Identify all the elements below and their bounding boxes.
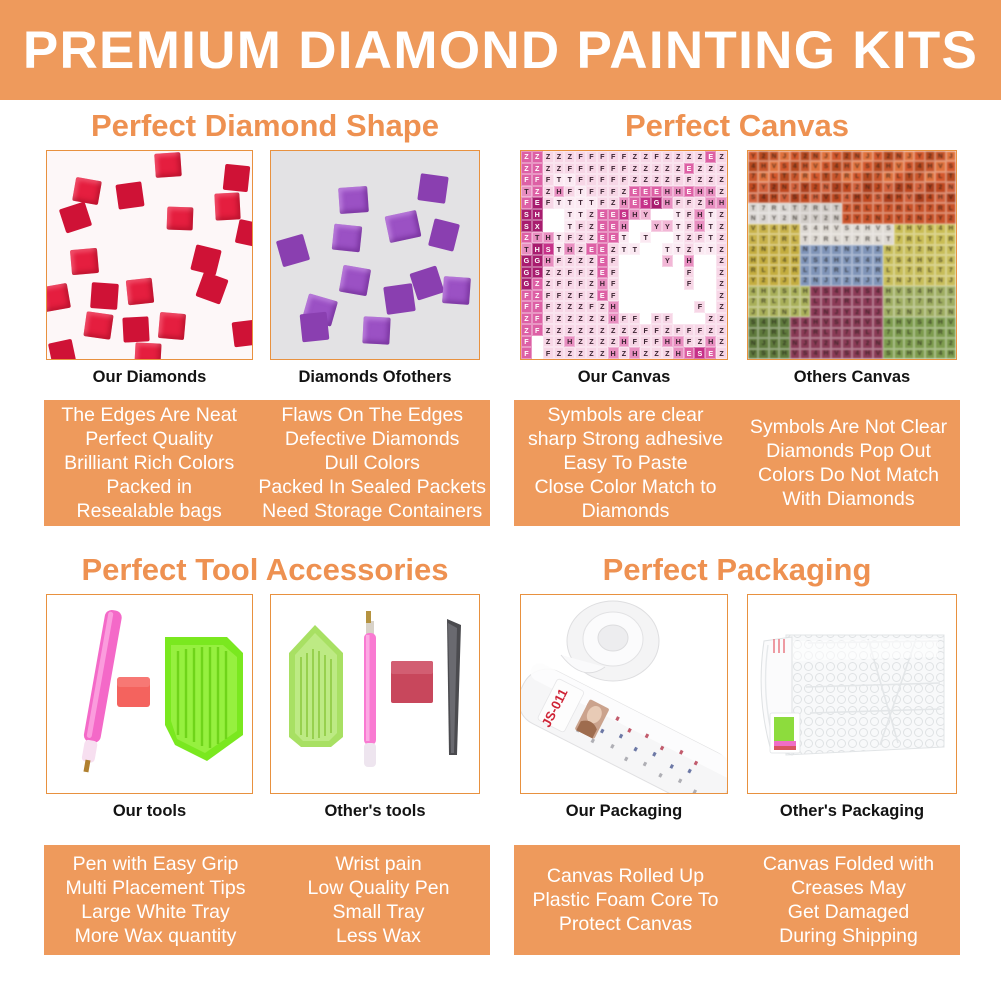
canvas-cell: J <box>873 182 883 192</box>
compare-col-others-diamonds: Flaws On The Edges Defective Diamonds Du… <box>254 400 490 526</box>
canvas-cell: F <box>521 347 532 359</box>
canvas-cell: F <box>532 301 543 313</box>
canvas-cell: Y <box>914 151 924 161</box>
canvas-cell: Z <box>716 255 727 267</box>
canvas-cell: Z <box>597 313 608 325</box>
canvas-cell: T <box>831 328 841 338</box>
canvas-cell: T <box>673 290 684 302</box>
canvas-cell: 2 <box>790 245 800 255</box>
canvas-cell: Z <box>619 347 630 359</box>
canvas-cell: R <box>748 265 758 275</box>
canvas-cell: 7 <box>810 234 820 244</box>
canvas-cell: T <box>619 278 630 290</box>
canvas-cell: 4 <box>873 161 883 171</box>
canvas-cell: S <box>883 224 893 234</box>
canvas-cell: S <box>810 255 820 265</box>
compare-col-ours-canvas: Symbols are clear sharp Strong adhesive … <box>514 400 737 526</box>
canvas-cell: 2 <box>873 245 883 255</box>
canvas-cell: L <box>779 203 789 213</box>
canvas-cell: V <box>852 286 862 296</box>
canvas-cell: H <box>894 317 904 327</box>
canvas-cell: Y <box>758 182 768 192</box>
canvas-cell: H <box>800 161 810 171</box>
canvas-cell: H <box>629 209 640 221</box>
canvas-cell: F <box>608 290 619 302</box>
canvas-cell: T <box>705 255 716 267</box>
canvas-cell: T <box>564 174 575 186</box>
canvas-cell: R <box>831 265 841 275</box>
canvas-cell: Z <box>629 151 640 163</box>
canvas-cell: Z <box>684 232 695 244</box>
canvas-cell: T <box>640 278 651 290</box>
canvas-cell: V <box>946 317 956 327</box>
canvas-cell: F <box>684 278 695 290</box>
canvas-cell: N <box>821 307 831 317</box>
canvas-cell: E <box>597 220 608 232</box>
canvas-cell: Z <box>554 267 565 279</box>
canvas-cell: J <box>873 307 883 317</box>
canvas-cell: H <box>894 193 904 203</box>
canvas-cell: L <box>946 203 956 213</box>
canvas-cell: Z <box>586 324 597 336</box>
canvas-cell: V <box>831 349 841 359</box>
canvas-cell: V <box>748 349 758 359</box>
canvas-cell: Z <box>586 278 597 290</box>
canvas-cell: 2 <box>883 276 893 286</box>
canvas-cell: H <box>554 186 565 198</box>
canvas-cell: H <box>564 336 575 348</box>
compare-line: Symbols are clear <box>547 403 703 427</box>
canvas-cell: H <box>673 336 684 348</box>
canvas-cell: Z <box>694 174 705 186</box>
compare-line: Resealable bags <box>77 499 222 523</box>
compare-line: Get Damaged <box>788 900 909 924</box>
canvas-cell: J <box>852 245 862 255</box>
compare-col-ours-diamonds: The Edges Are Neat Perfect Quality Brill… <box>44 400 254 526</box>
canvas-cell: V <box>810 286 820 296</box>
canvas-cell: T <box>673 243 684 255</box>
canvas-cell: Z <box>543 324 554 336</box>
canvas-cell: H <box>842 161 852 171</box>
canvas-cell: Z <box>554 347 565 359</box>
canvas-cell: F <box>521 301 532 313</box>
canvas-cell: F <box>586 163 597 175</box>
canvas-cell: H <box>925 161 935 171</box>
canvas-cell: H <box>673 347 684 359</box>
canvas-cell: 7 <box>883 203 893 213</box>
canvas-cell: J <box>946 276 956 286</box>
canvas-cell: F <box>554 255 565 267</box>
canvas-cell: I <box>554 209 565 221</box>
canvas-cell: T <box>705 290 716 302</box>
panel-others-canvas: Y2NJY2NJY2NJY2NJY2NJ4HVS4HVS4HVS4HVS4HVS… <box>747 150 957 360</box>
canvas-cell: Y <box>925 182 935 192</box>
canvas-cell: 7 <box>904 265 914 275</box>
canvas-cell: S <box>790 193 800 203</box>
canvas-cell: J <box>894 245 904 255</box>
canvas-cell: J <box>662 232 673 244</box>
canvas-cell: T <box>694 255 705 267</box>
canvas-cell: F <box>575 267 586 279</box>
canvas-cell: F <box>575 174 586 186</box>
canvas-cell: Z <box>554 336 565 348</box>
canvas-cell: F <box>694 324 705 336</box>
canvas-cell: E <box>684 347 695 359</box>
compare-line: Pen with Easy Grip <box>73 852 239 876</box>
canvas-cell: H <box>705 336 716 348</box>
canvas-cell: 7 <box>800 328 810 338</box>
canvas-cell: Z <box>608 336 619 348</box>
canvas-cell: J <box>779 276 789 286</box>
canvas-cell: 7 <box>748 297 758 307</box>
compare-line: The Edges Are Neat <box>61 403 237 427</box>
canvas-cell: T <box>575 197 586 209</box>
canvas-cell: V <box>914 349 924 359</box>
canvas-cell: 4 <box>790 161 800 171</box>
our-tools-illustration <box>47 595 253 794</box>
canvas-cell: T <box>894 265 904 275</box>
canvas-cell: V <box>831 224 841 234</box>
canvas-cell: 4 <box>883 317 893 327</box>
canvas-cell: L <box>862 203 872 213</box>
canvas-cell: Z <box>521 313 532 325</box>
canvas-cell: Z <box>629 163 640 175</box>
canvas-cell: H <box>821 349 831 359</box>
canvas-cell: H <box>779 349 789 359</box>
canvas-cell: Z <box>673 163 684 175</box>
canvas-cell: H <box>564 243 575 255</box>
canvas-cell: V <box>894 286 904 296</box>
canvas-cell: T <box>640 290 651 302</box>
canvas-cell: Z <box>575 255 586 267</box>
canvas-cell: S <box>790 317 800 327</box>
canvas-cell: T <box>532 232 543 244</box>
compare-line: Small Tray <box>332 900 424 924</box>
canvas-cell: J <box>640 220 651 232</box>
canvas-cell: F <box>619 313 630 325</box>
canvas-cell: V <box>862 193 872 203</box>
canvas-cell: J <box>914 307 924 317</box>
canvas-cell: H <box>935 193 945 203</box>
canvas-cell: N <box>925 245 935 255</box>
canvas-cell: 4 <box>769 349 779 359</box>
canvas-cell: R <box>904 234 914 244</box>
caption-other-packaging: Other's Packaging <box>747 802 957 821</box>
canvas-cell: 4 <box>769 224 779 234</box>
canvas-cell: Z <box>564 151 575 163</box>
canvas-cell: S <box>758 349 768 359</box>
canvas-cell: 7 <box>883 328 893 338</box>
canvas-cell: I <box>629 220 640 232</box>
canvas-cell: T <box>935 265 945 275</box>
canvas-cell: Z <box>543 336 554 348</box>
canvas-cell: 7 <box>821 265 831 275</box>
canvas-cell: J <box>640 243 651 255</box>
our-packaging-artwork: JS-011 <box>521 595 727 793</box>
canvas-cell: Y <box>873 151 883 161</box>
canvas-cell: 4 <box>894 224 904 234</box>
canvas-cell: 7 <box>852 234 862 244</box>
canvas-cell: 7 <box>935 234 945 244</box>
canvas-cell: Z <box>694 163 705 175</box>
canvas-cell: Y <box>904 245 914 255</box>
canvas-cell: J <box>925 338 935 348</box>
canvas-cell: N <box>852 151 862 161</box>
canvas-cell: R <box>842 297 852 307</box>
canvas-cell: R <box>769 203 779 213</box>
canvas-cell: R <box>935 328 945 338</box>
canvas-cell: Z <box>662 174 673 186</box>
canvas-cell: 2 <box>800 276 810 286</box>
canvas-cell: T <box>521 186 532 198</box>
canvas-cell: Z <box>543 163 554 175</box>
canvas-cell: J <box>914 182 924 192</box>
canvas-cell: G <box>651 197 662 209</box>
canvas-cell: 4 <box>810 224 820 234</box>
canvas-cell: Y <box>894 338 904 348</box>
canvas-cell: Y <box>946 245 956 255</box>
canvas-cell: N <box>779 307 789 317</box>
canvas-cell: F <box>586 186 597 198</box>
canvas-cell: V <box>946 193 956 203</box>
canvas-cell: R <box>894 203 904 213</box>
canvas-cell: J <box>862 151 872 161</box>
canvas-cell: H <box>821 224 831 234</box>
canvas-cell: F <box>608 163 619 175</box>
canvas-cell: T <box>554 243 565 255</box>
canvas-cell: 2 <box>904 338 914 348</box>
canvas-cell: J <box>800 338 810 348</box>
canvas-cell: 4 <box>894 349 904 359</box>
canvas-cell: T <box>673 220 684 232</box>
compare-line: Symbols Are Not Clear <box>750 415 947 439</box>
canvas-cell: Y <box>790 276 800 286</box>
canvas-cell: J <box>769 245 779 255</box>
canvas-cell: T <box>651 255 662 267</box>
canvas-cell: L <box>862 328 872 338</box>
canvas-cell: T <box>554 232 565 244</box>
canvas-cell: Z <box>705 324 716 336</box>
canvas-cell: F <box>554 290 565 302</box>
canvas-cell: 4 <box>862 255 872 265</box>
canvas-cell: R <box>935 203 945 213</box>
canvas-cell: T <box>705 278 716 290</box>
canvas-cell: 7 <box>831 172 841 182</box>
canvas-cell: Z <box>716 347 727 359</box>
canvas-cell: 7 <box>914 172 924 182</box>
canvas-cell: H <box>543 232 554 244</box>
canvas-cell: J <box>904 151 914 161</box>
canvas-cell: H <box>597 278 608 290</box>
canvas-cell: Z <box>716 301 727 313</box>
canvas-cell: L <box>831 234 841 244</box>
compare-line: Close Color Match to <box>534 475 716 499</box>
canvas-cell: Z <box>575 313 586 325</box>
canvas-cell: H <box>532 243 543 255</box>
canvas-cell: J <box>779 151 789 161</box>
canvas-cell: Z <box>521 324 532 336</box>
canvas-cell: F <box>662 313 673 325</box>
canvas-cell: Y <box>831 276 841 286</box>
canvas-cell: Y <box>769 338 779 348</box>
canvas-cell: H <box>862 224 872 234</box>
canvas-cell: F <box>597 174 608 186</box>
canvas-cell: 4 <box>748 286 758 296</box>
canvas-cell: S <box>619 209 630 221</box>
canvas-cell: T <box>684 301 695 313</box>
canvas-cell: N <box>748 338 758 348</box>
canvas-cell: H <box>883 286 893 296</box>
canvas-cell: T <box>862 297 872 307</box>
canvas-cell: H <box>608 301 619 313</box>
canvas-cell: Z <box>640 151 651 163</box>
canvas-cell: T <box>651 278 662 290</box>
canvas-cell: T <box>651 267 662 279</box>
canvas-cell: Z <box>597 324 608 336</box>
canvas-cell: E <box>597 267 608 279</box>
canvas-cell: R <box>800 172 810 182</box>
canvas-cell: T <box>629 267 640 279</box>
canvas-cell: H <box>532 209 543 221</box>
canvas-cell: N <box>904 182 914 192</box>
canvas-cell: 7 <box>748 172 758 182</box>
canvas-cell: Z <box>554 313 565 325</box>
canvas-cell: T <box>904 172 914 182</box>
canvas-cell: R <box>925 172 935 182</box>
canvas-cell: H <box>904 349 914 359</box>
canvas-cell: N <box>800 245 810 255</box>
canvas-cell: V <box>758 255 768 265</box>
canvas-cell: V <box>769 286 779 296</box>
canvas-cell: Z <box>586 336 597 348</box>
canvas-cell: V <box>779 193 789 203</box>
canvas-cell: 4 <box>935 349 945 359</box>
canvas-cell: J <box>821 151 831 161</box>
canvas-cell: T <box>800 234 810 244</box>
canvas-cell: 7 <box>946 265 956 275</box>
section-title-tools: Perfect Tool Accessories <box>44 552 486 588</box>
canvas-cell: 4 <box>925 317 935 327</box>
caption-other-tools: Other's tools <box>270 802 480 821</box>
canvas-cell: Z <box>532 278 543 290</box>
canvas-cell: T <box>619 301 630 313</box>
canvas-cell: 2 <box>821 338 831 348</box>
compare-line: Need Storage Containers <box>262 499 482 523</box>
canvas-cell: S <box>758 224 768 234</box>
canvas-cell: T <box>619 290 630 302</box>
canvas-cell: S <box>925 349 935 359</box>
canvas-cell: S <box>904 286 914 296</box>
canvas-cell: Z <box>521 151 532 163</box>
canvas-cell: Z <box>575 347 586 359</box>
canvas-cell: R <box>883 172 893 182</box>
canvas-cell: Z <box>532 151 543 163</box>
canvas-cell: H <box>673 186 684 198</box>
canvas-cell: S <box>862 161 872 171</box>
canvas-cell: Z <box>651 347 662 359</box>
canvas-cell: F <box>586 151 597 163</box>
canvas-cell: J <box>831 307 841 317</box>
canvas-cell: J <box>810 245 820 255</box>
canvas-cell: T <box>554 197 565 209</box>
canvas-cell: T <box>925 234 935 244</box>
canvas-cell: R <box>758 297 768 307</box>
canvas-cell: N <box>935 276 945 286</box>
canvas-cell: V <box>904 317 914 327</box>
canvas-cell: 2 <box>758 276 768 286</box>
canvas-cell: N <box>821 182 831 192</box>
canvas-cell: H <box>946 224 956 234</box>
canvas-cell: F <box>684 209 695 221</box>
canvas-cell: L <box>873 234 883 244</box>
canvas-cell: Z <box>575 243 586 255</box>
canvas-cell: S <box>862 286 872 296</box>
canvas-cell: Y <box>800 182 810 192</box>
canvas-cell: T <box>673 278 684 290</box>
canvas-cell: J <box>946 151 956 161</box>
canvas-cell: Z <box>640 174 651 186</box>
compare-line: Brilliant Rich Colors <box>64 451 234 475</box>
canvas-cell: L <box>748 234 758 244</box>
canvas-cell: S <box>842 349 852 359</box>
canvas-cell: Y <box>842 182 852 192</box>
canvas-cell: Y <box>769 213 779 223</box>
canvas-cell: 4 <box>831 161 841 171</box>
canvas-cell: H <box>769 193 779 203</box>
caption-other-diamonds: Diamonds Ofothers <box>270 368 480 387</box>
canvas-cell: T <box>673 313 684 325</box>
canvas-cell: Z <box>564 301 575 313</box>
canvas-cell: H <box>790 255 800 265</box>
canvas-cell: Y <box>914 276 924 286</box>
canvas-cell: L <box>842 265 852 275</box>
canvas-cell: E <box>532 197 543 209</box>
canvas-cell: Z <box>543 278 554 290</box>
canvas-cell: Z <box>521 163 532 175</box>
canvas-cell: F <box>575 163 586 175</box>
canvas-cell: Z <box>564 290 575 302</box>
canvas-cell: H <box>873 255 883 265</box>
canvas-cell: L <box>810 172 820 182</box>
canvas-cell: T <box>852 265 862 275</box>
canvas-cell: T <box>619 267 630 279</box>
canvas-cell: T <box>640 255 651 267</box>
canvas-cell: 2 <box>883 151 893 161</box>
canvas-cell: Y <box>800 307 810 317</box>
canvas-cell: V <box>810 161 820 171</box>
canvas-cell: H <box>758 161 768 171</box>
canvas-cell: Z <box>716 163 727 175</box>
canvas-cell: V <box>914 224 924 234</box>
canvas-cell: R <box>946 234 956 244</box>
canvas-cell: V <box>904 193 914 203</box>
canvas-cell: T <box>629 255 640 267</box>
canvas-cell: T <box>662 301 673 313</box>
canvas-cell: S <box>914 317 924 327</box>
canvas-cell: T <box>564 197 575 209</box>
canvas-cell: F <box>564 267 575 279</box>
canvas-cell: 2 <box>769 307 779 317</box>
canvas-cell: V <box>790 224 800 234</box>
canvas-cell: 7 <box>925 328 935 338</box>
canvas-cell: N <box>946 307 956 317</box>
canvas-cell: F <box>543 301 554 313</box>
canvas-cell: Z <box>554 163 565 175</box>
canvas-cell: Z <box>629 174 640 186</box>
canvas-cell: F <box>543 174 554 186</box>
canvas-cell: 4 <box>758 193 768 203</box>
canvas-cell: 4 <box>790 286 800 296</box>
